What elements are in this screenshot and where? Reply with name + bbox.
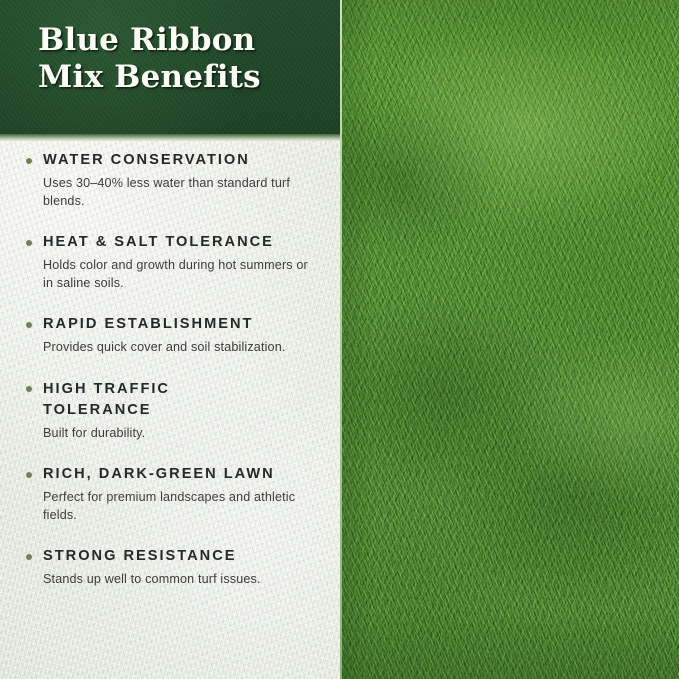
page-title-line-2: Mix Benefits [38,59,330,96]
benefit-description: Stands up well to common turf issues. [43,571,315,589]
bullet-dot-icon [26,554,32,560]
benefits-list: WATER CONSERVATION Uses 30–40% less wate… [0,150,340,589]
benefit-description: Holds color and growth during hot summer… [43,257,315,292]
bullet-dot-icon [26,472,32,478]
benefit-description: Provides quick cover and soil stabilizat… [43,339,315,357]
benefits-text-panel: Blue Ribbon Mix Benefits WATER CONSERVAT… [0,0,340,679]
header-divider-band [0,134,340,141]
title-header-block: Blue Ribbon Mix Benefits [0,0,340,134]
benefit-heading: HEAT & SALT TOLERANCE [26,232,322,253]
benefit-item-strong-resistance: STRONG RESISTANCE Stands up well to comm… [26,546,322,589]
page-title-line-1: Blue Ribbon [38,22,330,59]
product-benefits-infographic: Blue Ribbon Mix Benefits WATER CONSERVAT… [0,0,679,679]
benefit-heading: HIGH TRAFFIC TOLERANCE [26,379,218,421]
benefit-description: Perfect for premium landscapes and athle… [43,489,315,524]
benefit-item-heat-salt-tolerance: HEAT & SALT TOLERANCE Holds color and gr… [26,232,322,292]
benefit-item-high-traffic-tolerance: HIGH TRAFFIC TOLERANCE Built for durabil… [26,379,322,443]
lawn-grass-photo [340,0,679,679]
benefit-heading: STRONG RESISTANCE [26,546,322,567]
title-header-inner: Blue Ribbon Mix Benefits [38,22,330,96]
benefit-heading: RAPID ESTABLISHMENT [26,314,322,335]
bullet-dot-icon [26,240,32,246]
benefit-item-rich-dark-green-lawn: RICH, DARK-GREEN LAWN Perfect for premiu… [26,464,322,524]
benefit-title-text: RAPID ESTABLISHMENT [43,316,253,332]
bullet-dot-icon [26,158,32,164]
benefit-description: Uses 30–40% less water than standard tur… [43,175,315,210]
benefit-heading: WATER CONSERVATION [26,150,322,171]
grass-tonal-mottling [340,0,679,679]
benefit-title-text: RICH, DARK-GREEN LAWN [43,466,275,482]
bullet-dot-icon [26,386,32,392]
benefit-heading: RICH, DARK-GREEN LAWN [26,464,322,485]
benefit-title-text: WATER CONSERVATION [43,152,250,168]
bullet-dot-icon [26,322,32,328]
panel-photo-seam [340,0,342,679]
benefit-description: Built for durability. [43,425,315,443]
benefit-item-water-conservation: WATER CONSERVATION Uses 30–40% less wate… [26,150,322,210]
benefit-title-text: STRONG RESISTANCE [43,548,236,564]
benefit-item-rapid-establishment: RAPID ESTABLISHMENT Provides quick cover… [26,314,322,357]
benefit-title-text: HEAT & SALT TOLERANCE [43,234,274,250]
benefit-title-text: HIGH TRAFFIC TOLERANCE [43,381,170,418]
